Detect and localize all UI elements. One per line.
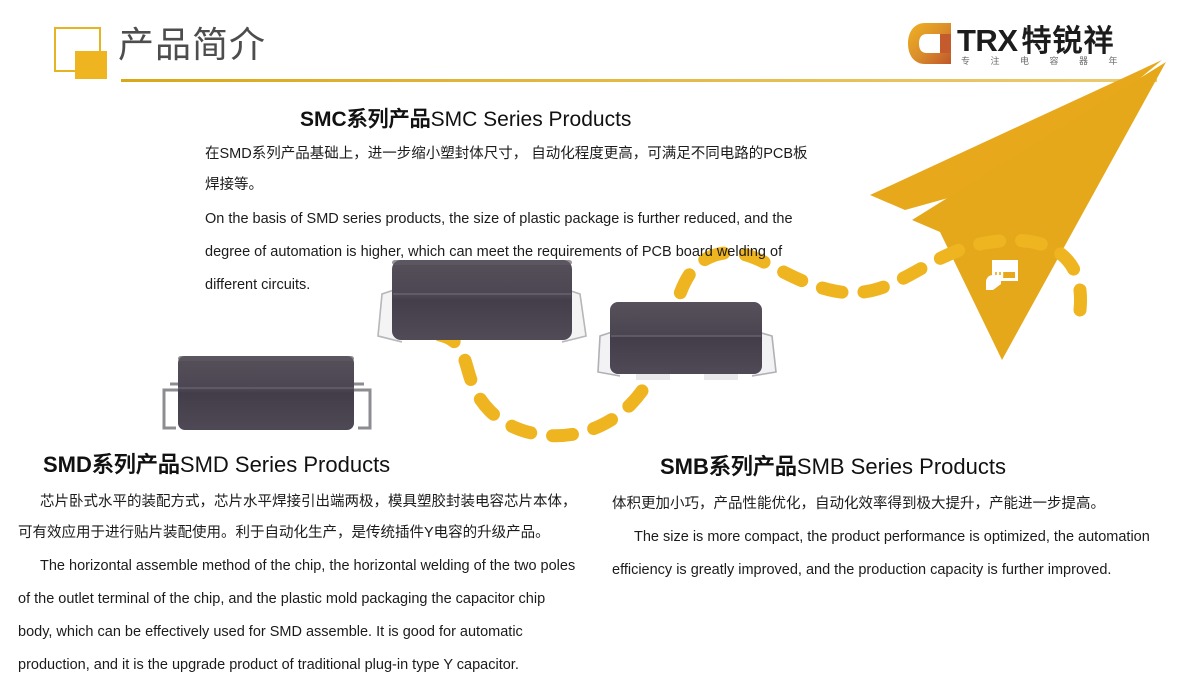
smd-body-en-text: The horizontal assemble method of the ch… [40, 558, 575, 574]
section-smd: SMD系列产品SMD Series Products 芯片卧式水平的装配方式，芯… [18, 447, 608, 682]
smc-body-cn-line: 在SMD系列产品基础上，进一步缩小塑封体尺寸， 自动化程度更高，可满足不同电路的… [205, 139, 845, 170]
smd-body-en: The horizontal assemble method of the ch… [18, 550, 608, 682]
smc-body-cn: 在SMD系列产品基础上，进一步缩小塑封体尺寸， 自动化程度更高，可满足不同电路的… [205, 139, 845, 201]
smd-heading: SMD系列产品SMD Series Products [43, 447, 608, 479]
square-filled-shape [75, 51, 107, 79]
smb-body-en-text: The size is more compact, the product pe… [634, 529, 1150, 545]
smb-capacitor-image [592, 292, 788, 386]
smb-body-en-line: The size is more compact, the product pe… [612, 521, 1167, 554]
smd-capacitor-image [152, 336, 402, 446]
page-title: 产品简介 [118, 22, 266, 68]
smc-body-en-line: On the basis of SMD series products, the… [205, 203, 845, 236]
smd-heading-en: SMD Series Products [180, 452, 390, 477]
smd-body-en-line: The horizontal assemble method of the ch… [18, 550, 608, 583]
smb-body-cn-line: 体积更加小巧，产品性能优化，自动化效率得到极大提升，产能进一步提高。 [612, 489, 1167, 520]
smd-body-cn-line: 芯片卧式水平的装配方式，芯片水平焊接引出端两极，模具塑胶封装电容芯片本体， [18, 487, 608, 518]
smc-body-en: On the basis of SMD series products, the… [205, 203, 845, 302]
smc-heading-cn: SMC系列产品 [300, 108, 431, 131]
smd-body-cn: 芯片卧式水平的装配方式，芯片水平焊接引出端两极，模具塑胶封装电容芯片本体， 可有… [18, 487, 608, 549]
logo-wordmark-en: TRX [957, 23, 1018, 58]
section-smb: SMB系列产品SMB Series Products 体积更加小巧，产品性能优化… [612, 449, 1167, 587]
smc-body-en-line: different circuits. [205, 269, 845, 302]
smc-body-cn-line: 焊接等。 [205, 170, 845, 201]
section-smc: SMC系列产品SMC Series Products 在SMD系列产品基础上，进… [205, 103, 845, 302]
smd-body-en-line: production, and it is the upgrade produc… [18, 649, 608, 682]
smb-body-en-line: efficiency is greatly improved, and the … [612, 554, 1167, 587]
smd-body-cn-text: 芯片卧式水平的装配方式，芯片水平焊接引出端两极，模具塑胶封装电容芯片本体， [40, 494, 577, 510]
smd-body-en-line: body, which can be effectively used for … [18, 616, 608, 649]
smc-heading-en: SMC Series Products [431, 108, 632, 131]
smb-body-cn: 体积更加小巧，产品性能优化，自动化效率得到极大提升，产能进一步提高。 [612, 489, 1167, 520]
double-square-icon [54, 27, 108, 77]
smc-heading: SMC系列产品SMC Series Products [300, 103, 845, 133]
smd-body-cn-line: 可有效应用于进行贴片装配使用。利于自动化生产，是传统插件Y电容的升级产品。 [18, 518, 608, 549]
smd-body-en-line: of the outlet terminal of the chip, and … [18, 583, 608, 616]
smb-body-en: The size is more compact, the product pe… [612, 521, 1167, 587]
smb-heading: SMB系列产品SMB Series Products [660, 449, 1167, 481]
smd-heading-cn: SMD系列产品 [43, 452, 180, 477]
slide-canvas: 产品简介 TRX特锐祥 专 注 电 容 器 年 [0, 0, 1200, 676]
smb-heading-cn: SMB系列产品 [660, 454, 797, 479]
smc-body-en-line: degree of automation is higher, which ca… [205, 236, 845, 269]
smb-heading-en: SMB Series Products [797, 454, 1006, 479]
